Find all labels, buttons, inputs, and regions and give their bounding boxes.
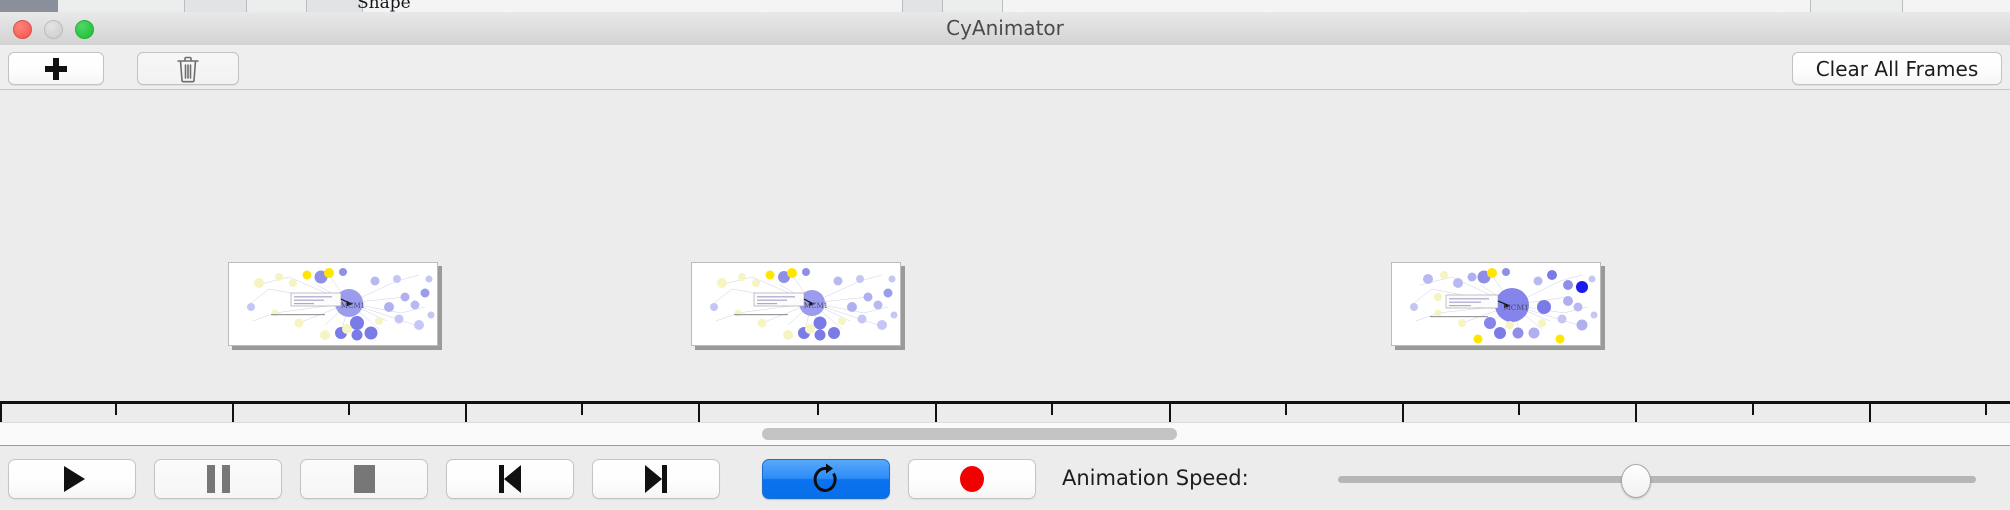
record-button[interactable] bbox=[908, 459, 1036, 499]
delete-frame-button[interactable] bbox=[137, 52, 239, 85]
loop-icon bbox=[811, 463, 841, 495]
skip-to-end-button[interactable] bbox=[592, 459, 720, 499]
timeline-axis[interactable]: 12 13 14 15 16 17 18 bbox=[0, 401, 2010, 422]
keyframe-thumbnail-2[interactable]: MCM1 bbox=[691, 262, 905, 350]
plus-icon bbox=[45, 58, 67, 80]
stop-button[interactable] bbox=[300, 459, 428, 499]
network-thumbnail-graphic: MCM1 bbox=[229, 263, 437, 345]
keyframe-thumbnail-3[interactable]: MCM1 bbox=[1391, 262, 1605, 350]
clear-all-frames-label: Clear All Frames bbox=[1816, 57, 1979, 81]
pause-button[interactable] bbox=[154, 459, 282, 499]
axis-tick-minor bbox=[581, 404, 583, 415]
svg-text:MCM1: MCM1 bbox=[341, 302, 365, 310]
svg-text:MCM1: MCM1 bbox=[1503, 303, 1529, 312]
animation-speed-slider[interactable] bbox=[1338, 476, 1976, 483]
axis-tick-minor bbox=[1051, 404, 1053, 415]
window-title: CyAnimator bbox=[0, 12, 2010, 45]
cyanimator-window: Shape CyAnimator Clear All Frames bbox=[0, 0, 2010, 510]
clear-all-frames-button[interactable]: Clear All Frames bbox=[1792, 52, 2002, 85]
loop-toggle-button[interactable] bbox=[762, 459, 890, 499]
axis-tick-major bbox=[1402, 404, 1404, 422]
axis-tick-major bbox=[698, 404, 700, 422]
axis-baseline bbox=[0, 401, 2010, 404]
pause-icon bbox=[207, 465, 230, 493]
frame-toolbar: Clear All Frames bbox=[0, 45, 2010, 90]
keyframe-thumbnail-1[interactable]: MCM1 bbox=[228, 262, 442, 350]
svg-text:MCM1: MCM1 bbox=[804, 302, 828, 310]
animation-speed-label: Animation Speed: bbox=[1062, 459, 1249, 497]
play-button[interactable] bbox=[8, 459, 136, 499]
skip-to-start-button[interactable] bbox=[446, 459, 574, 499]
axis-tick-major bbox=[935, 404, 937, 422]
axis-tick-major bbox=[232, 404, 234, 422]
background-window-strip: Shape bbox=[0, 0, 2010, 12]
thumbnail-sheet: MCM1 bbox=[691, 262, 901, 346]
thumbnail-sheet: MCM1 bbox=[228, 262, 438, 346]
axis-tick-minor bbox=[817, 404, 819, 415]
axis-tick-minor bbox=[115, 404, 117, 415]
stop-icon bbox=[354, 465, 375, 493]
axis-tick-major bbox=[1169, 404, 1171, 422]
skip-forward-icon bbox=[645, 465, 667, 493]
scrollbar-thumb[interactable] bbox=[762, 428, 1177, 440]
timeline-panel[interactable]: MCM1 bbox=[0, 90, 2010, 422]
axis-tick-major bbox=[0, 404, 2, 422]
title-bar: CyAnimator bbox=[0, 12, 2010, 46]
axis-tick-minor bbox=[1985, 404, 1987, 415]
play-icon bbox=[64, 466, 85, 492]
animation-speed-slider-knob[interactable] bbox=[1621, 464, 1651, 498]
axis-tick-minor bbox=[1518, 404, 1520, 415]
background-fragment-text: Shape bbox=[357, 0, 411, 9]
axis-tick-major bbox=[465, 404, 467, 422]
record-icon bbox=[960, 466, 984, 492]
axis-tick-minor bbox=[348, 404, 350, 415]
axis-tick-major bbox=[1869, 404, 1871, 422]
trash-icon bbox=[175, 55, 201, 83]
axis-tick-major bbox=[1635, 404, 1637, 422]
skip-back-icon bbox=[499, 465, 521, 493]
playback-control-bar: Animation Speed: bbox=[0, 445, 2010, 510]
timeline-scrollbar[interactable] bbox=[0, 422, 2010, 446]
axis-tick-minor bbox=[1752, 404, 1754, 415]
network-thumbnail-graphic: MCM1 bbox=[692, 263, 900, 345]
axis-tick-minor bbox=[1285, 404, 1287, 415]
add-frame-button[interactable] bbox=[8, 52, 104, 85]
thumbnail-sheet: MCM1 bbox=[1391, 262, 1601, 346]
network-thumbnail-graphic: MCM1 bbox=[1392, 263, 1600, 345]
